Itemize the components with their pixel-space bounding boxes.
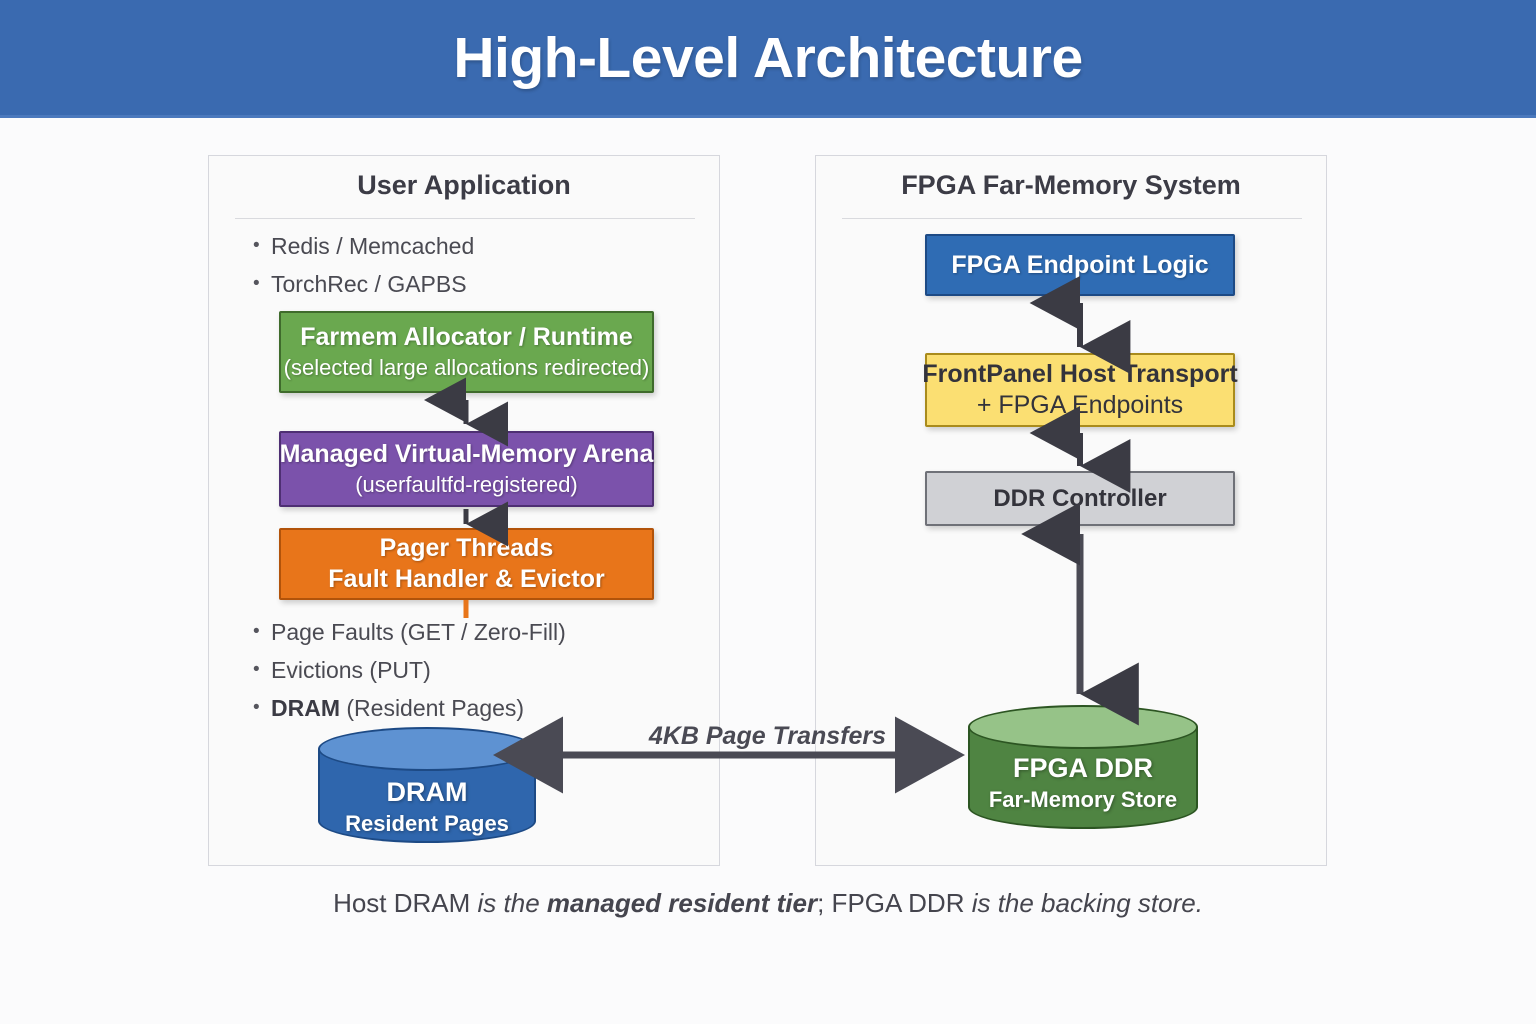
footer-part-5: is the backing store.: [972, 888, 1203, 918]
panel-divider: [235, 218, 695, 219]
footer-emphasis: managed resident tier: [547, 888, 817, 918]
list-item-label: Evictions (PUT): [271, 652, 431, 688]
footer-part-2: is the: [478, 888, 547, 918]
panel-divider: [842, 218, 1302, 219]
footer-part-1: Host DRAM: [333, 888, 477, 918]
box-pager-threads[interactable]: Pager Threads Fault Handler & Evictor: [279, 528, 654, 600]
box-title: Farmem Allocator / Runtime: [300, 322, 632, 353]
bullet-dot-icon: •: [253, 228, 271, 264]
box-ddr-controller[interactable]: DDR Controller: [925, 471, 1235, 526]
cylinder-label: DRAM Resident Pages: [318, 775, 536, 839]
box-title-emphasis: FrontPanel Host Transport: [922, 360, 1237, 388]
list-item-label-dram: DRAM (Resident Pages): [271, 690, 524, 726]
box-farmem-allocator[interactable]: Farmem Allocator / Runtime (selected lar…: [279, 311, 654, 393]
panel-title-fpga-far-memory-system: FPGA Far-Memory System: [816, 170, 1326, 201]
left-top-bullet-list: • Redis / Memcached • TorchRec / GAPBS: [253, 228, 693, 304]
box-frontpanel-host-transport[interactable]: FrontPanel Host Transport + FPGA Endpoin…: [925, 353, 1235, 427]
cylinder-label: FPGA DDR Far-Memory Store: [968, 751, 1198, 815]
panel-title-user-application: User Application: [209, 170, 719, 201]
page-title: High-Level Architecture: [0, 0, 1536, 115]
footer-caption: Host DRAM is the managed resident tier; …: [0, 888, 1536, 919]
cylinder-dram[interactable]: DRAM Resident Pages: [318, 727, 536, 843]
cylinder-subtitle: Resident Pages: [318, 809, 536, 839]
list-item: • Redis / Memcached: [253, 228, 693, 264]
left-bottom-bullet-list: • Page Faults (GET / Zero-Fill) • Evicti…: [253, 614, 693, 728]
list-item-label: TorchRec / GAPBS: [271, 266, 467, 302]
list-item-label: Page Faults (GET / Zero-Fill): [271, 614, 566, 650]
list-item: • Evictions (PUT): [253, 652, 693, 688]
bullet-dot-icon: •: [253, 652, 271, 688]
box-subtitle: (selected large allocations redirected): [284, 353, 650, 383]
page-transfer-label: 4KB Page Transfers: [575, 722, 960, 751]
list-item: • DRAM (Resident Pages): [253, 690, 693, 726]
footer-part-4: ; FPGA DDR: [817, 888, 972, 918]
list-item: • Page Faults (GET / Zero-Fill): [253, 614, 693, 650]
box-title: Managed Virtual-Memory Arena: [280, 439, 654, 470]
box-subtitle: + FPGA Endpoints: [977, 390, 1183, 421]
cylinder-subtitle: Far-Memory Store: [968, 785, 1198, 815]
box-fpga-endpoint-logic[interactable]: FPGA Endpoint Logic: [925, 234, 1235, 296]
box-title: FrontPanel Host Transport: [922, 359, 1237, 390]
box-title: DDR Controller: [993, 483, 1166, 514]
box-title: Pager Threads: [380, 533, 554, 564]
box-title: FPGA Endpoint Logic: [951, 250, 1208, 281]
cylinder-title: DRAM: [318, 775, 536, 809]
bullet-dot-icon: •: [253, 690, 271, 726]
list-item-label: Redis / Memcached: [271, 228, 474, 264]
list-item-suffix: (Resident Pages): [340, 695, 524, 721]
box-subtitle: Fault Handler & Evictor: [328, 564, 604, 595]
cylinder-fpga-ddr[interactable]: FPGA DDR Far-Memory Store: [968, 705, 1198, 829]
list-item: • TorchRec / GAPBS: [253, 266, 693, 302]
list-item-emphasis: DRAM: [271, 695, 340, 721]
cylinder-top-ellipse: [318, 727, 536, 771]
box-managed-virtual-memory-arena[interactable]: Managed Virtual-Memory Arena (userfaultf…: [279, 431, 654, 507]
cylinder-top-ellipse: [968, 705, 1198, 749]
bullet-dot-icon: •: [253, 266, 271, 302]
cylinder-title: FPGA DDR: [968, 751, 1198, 785]
box-subtitle: (userfaultfd-registered): [355, 470, 578, 500]
bullet-dot-icon: •: [253, 614, 271, 650]
